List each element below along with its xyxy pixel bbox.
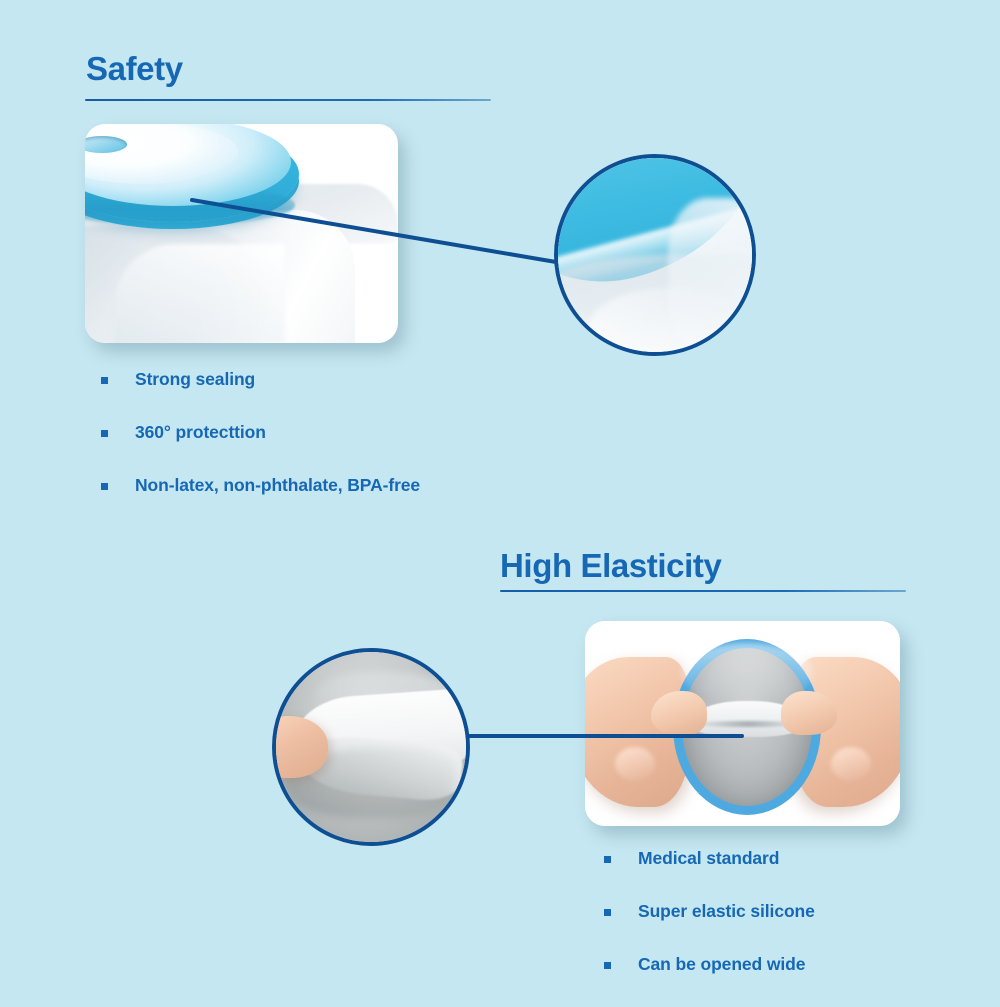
safety-heading-underline	[85, 99, 491, 101]
list-item-label: Medical standard	[638, 848, 779, 869]
list-item: 360° protecttion	[101, 422, 420, 443]
square-bullet-icon	[604, 962, 611, 969]
lid-inner-surface	[85, 124, 239, 184]
elasticity-section-heading: High Elasticity	[500, 549, 721, 582]
square-bullet-icon	[604, 909, 611, 916]
safety-magnifier-circle	[554, 154, 756, 356]
bag-fold-right	[115, 244, 285, 343]
elasticity-heading-underline	[500, 590, 906, 592]
elasticity-feature-list: Medical standard Super elastic silicone …	[604, 848, 815, 1007]
bag-crease-c	[668, 198, 756, 348]
list-item: Medical standard	[604, 848, 815, 869]
square-bullet-icon	[604, 856, 611, 863]
safety-section-heading: Safety	[86, 52, 183, 85]
left-knuckle	[615, 747, 655, 781]
safety-feature-list: Strong sealing 360° protecttion Non-late…	[101, 369, 420, 528]
square-bullet-icon	[101, 430, 108, 437]
elasticity-product-photo	[585, 621, 900, 826]
list-item-label: Non-latex, non-phthalate, BPA-free	[135, 475, 420, 496]
square-bullet-icon	[101, 483, 108, 490]
list-item-label: Can be opened wide	[638, 954, 805, 975]
square-bullet-icon	[101, 377, 108, 384]
right-thumb	[781, 691, 837, 735]
list-item-label: Super elastic silicone	[638, 901, 815, 922]
right-knuckle	[831, 747, 871, 781]
list-item-label: Strong sealing	[135, 369, 255, 390]
list-item: Non-latex, non-phthalate, BPA-free	[101, 475, 420, 496]
left-thumb	[651, 691, 707, 735]
safety-product-photo	[85, 124, 398, 343]
list-item: Super elastic silicone	[604, 901, 815, 922]
list-item: Can be opened wide	[604, 954, 815, 975]
list-item-label: 360° protecttion	[135, 422, 266, 443]
infographic-page: Safety Strong sealing 360° protecttion	[0, 0, 1000, 1000]
list-item: Strong sealing	[101, 369, 420, 390]
elasticity-magnifier-circle	[272, 648, 470, 846]
